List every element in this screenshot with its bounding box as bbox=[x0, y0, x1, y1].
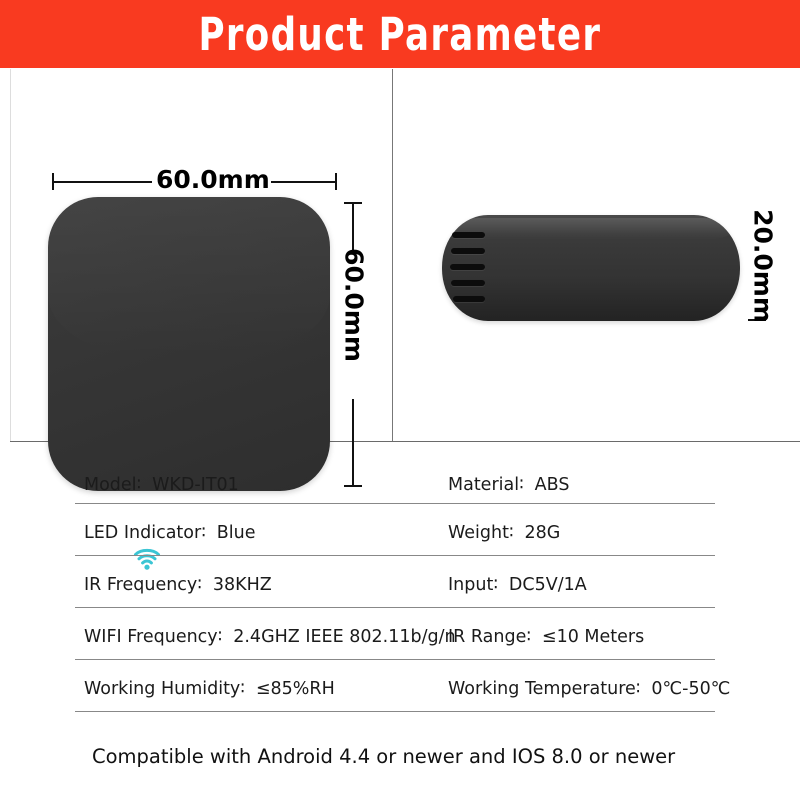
vent-slot bbox=[452, 232, 485, 238]
spec-cell-working-temperature: Working Temperature∶0℃-50℃ bbox=[448, 664, 730, 713]
spec-cell-model: Model∶WKD-IT01 bbox=[84, 460, 239, 509]
table-row: LED Indicator∶Blue Weight∶28G bbox=[0, 508, 800, 557]
dimension-endcap-right bbox=[335, 173, 337, 190]
height-dimension-label: 60.0mm bbox=[337, 253, 373, 358]
side-view-panel: 20.0mm bbox=[393, 69, 800, 441]
row-divider bbox=[75, 607, 715, 608]
spec-label: Material bbox=[448, 475, 519, 495]
spec-value: 28G bbox=[516, 523, 561, 543]
spec-label: Model bbox=[84, 475, 137, 495]
table-row: Working Humidity∶≤85%RH Working Temperat… bbox=[0, 664, 800, 713]
table-row: IR Frequency∶38KHZ Input∶DC5V/1A bbox=[0, 560, 800, 609]
vent-slot bbox=[450, 264, 485, 270]
dimension-line-left bbox=[52, 181, 158, 183]
row-divider bbox=[75, 555, 715, 556]
thickness-dimension-label: 20.0mm bbox=[746, 214, 782, 319]
dimension-endcap-top bbox=[344, 202, 362, 204]
spec-value: DC5V/1A bbox=[500, 575, 587, 595]
spec-cell-ir-range: IR Range∶≤10 Meters bbox=[448, 612, 644, 661]
spec-label: WIFI Frequency bbox=[84, 627, 218, 647]
vent-slot bbox=[453, 296, 485, 302]
spec-table: Model∶WKD-IT01 Material∶ABS LED Indicato… bbox=[0, 442, 800, 722]
spec-label: Working Humidity bbox=[84, 679, 240, 699]
row-divider bbox=[75, 711, 715, 712]
compatibility-note: Compatible with Android 4.4 or newer and… bbox=[92, 745, 675, 768]
table-row: WIFI Frequency∶2.4GHZ IEEE 802.11b/g/n I… bbox=[0, 612, 800, 661]
spec-cell-working-humidity: Working Humidity∶≤85%RH bbox=[84, 664, 335, 713]
spec-value: ABS bbox=[526, 475, 570, 495]
row-divider bbox=[75, 659, 715, 660]
spec-label: IR Frequency bbox=[84, 575, 197, 595]
spec-value: 2.4GHZ IEEE 802.11b/g/n bbox=[224, 627, 455, 647]
spec-value: ≤85%RH bbox=[247, 679, 335, 699]
spec-value: WKD-IT01 bbox=[143, 475, 239, 495]
product-parameter-page: Product Parameter 60.0mm bbox=[0, 0, 800, 800]
spec-label: IR Range bbox=[448, 627, 526, 647]
dimension-endcap-left bbox=[52, 173, 54, 190]
width-dimension-label: 60.0mm bbox=[152, 162, 242, 198]
top-view-panel: 60.0mm 60.0mm bbox=[0, 69, 392, 441]
spec-value: 38KHZ bbox=[204, 575, 272, 595]
dimension-line-right bbox=[271, 181, 337, 183]
device-side-view-body bbox=[442, 215, 740, 321]
spec-cell-wifi-frequency: WIFI Frequency∶2.4GHZ IEEE 802.11b/g/n bbox=[84, 612, 456, 661]
spec-label: Working Temperature bbox=[448, 679, 636, 699]
spec-value: ≤10 Meters bbox=[533, 627, 644, 647]
spec-cell-weight: Weight∶28G bbox=[448, 508, 560, 557]
spec-value: 0℃-50℃ bbox=[642, 679, 730, 699]
page-title: Product Parameter bbox=[199, 12, 602, 57]
spec-cell-input: Input∶DC5V/1A bbox=[448, 560, 587, 609]
spec-label: LED Indicator bbox=[84, 523, 201, 543]
vent-slot bbox=[451, 248, 485, 254]
spec-label: Input bbox=[448, 575, 493, 595]
row-divider bbox=[75, 503, 715, 504]
spec-cell-ir-frequency: IR Frequency∶38KHZ bbox=[84, 560, 272, 609]
spec-value: Blue bbox=[208, 523, 256, 543]
spec-cell-material: Material∶ABS bbox=[448, 460, 569, 509]
vent-slot bbox=[451, 280, 485, 286]
spec-label: Weight bbox=[448, 523, 509, 543]
spec-cell-led-indicator: LED Indicator∶Blue bbox=[84, 508, 255, 557]
thickness-dimension-callout: 20.0mm bbox=[756, 216, 757, 321]
width-dimension-callout: 60.0mm bbox=[52, 181, 337, 182]
table-row: Model∶WKD-IT01 Material∶ABS bbox=[0, 460, 800, 509]
header-banner: Product Parameter bbox=[0, 0, 800, 68]
